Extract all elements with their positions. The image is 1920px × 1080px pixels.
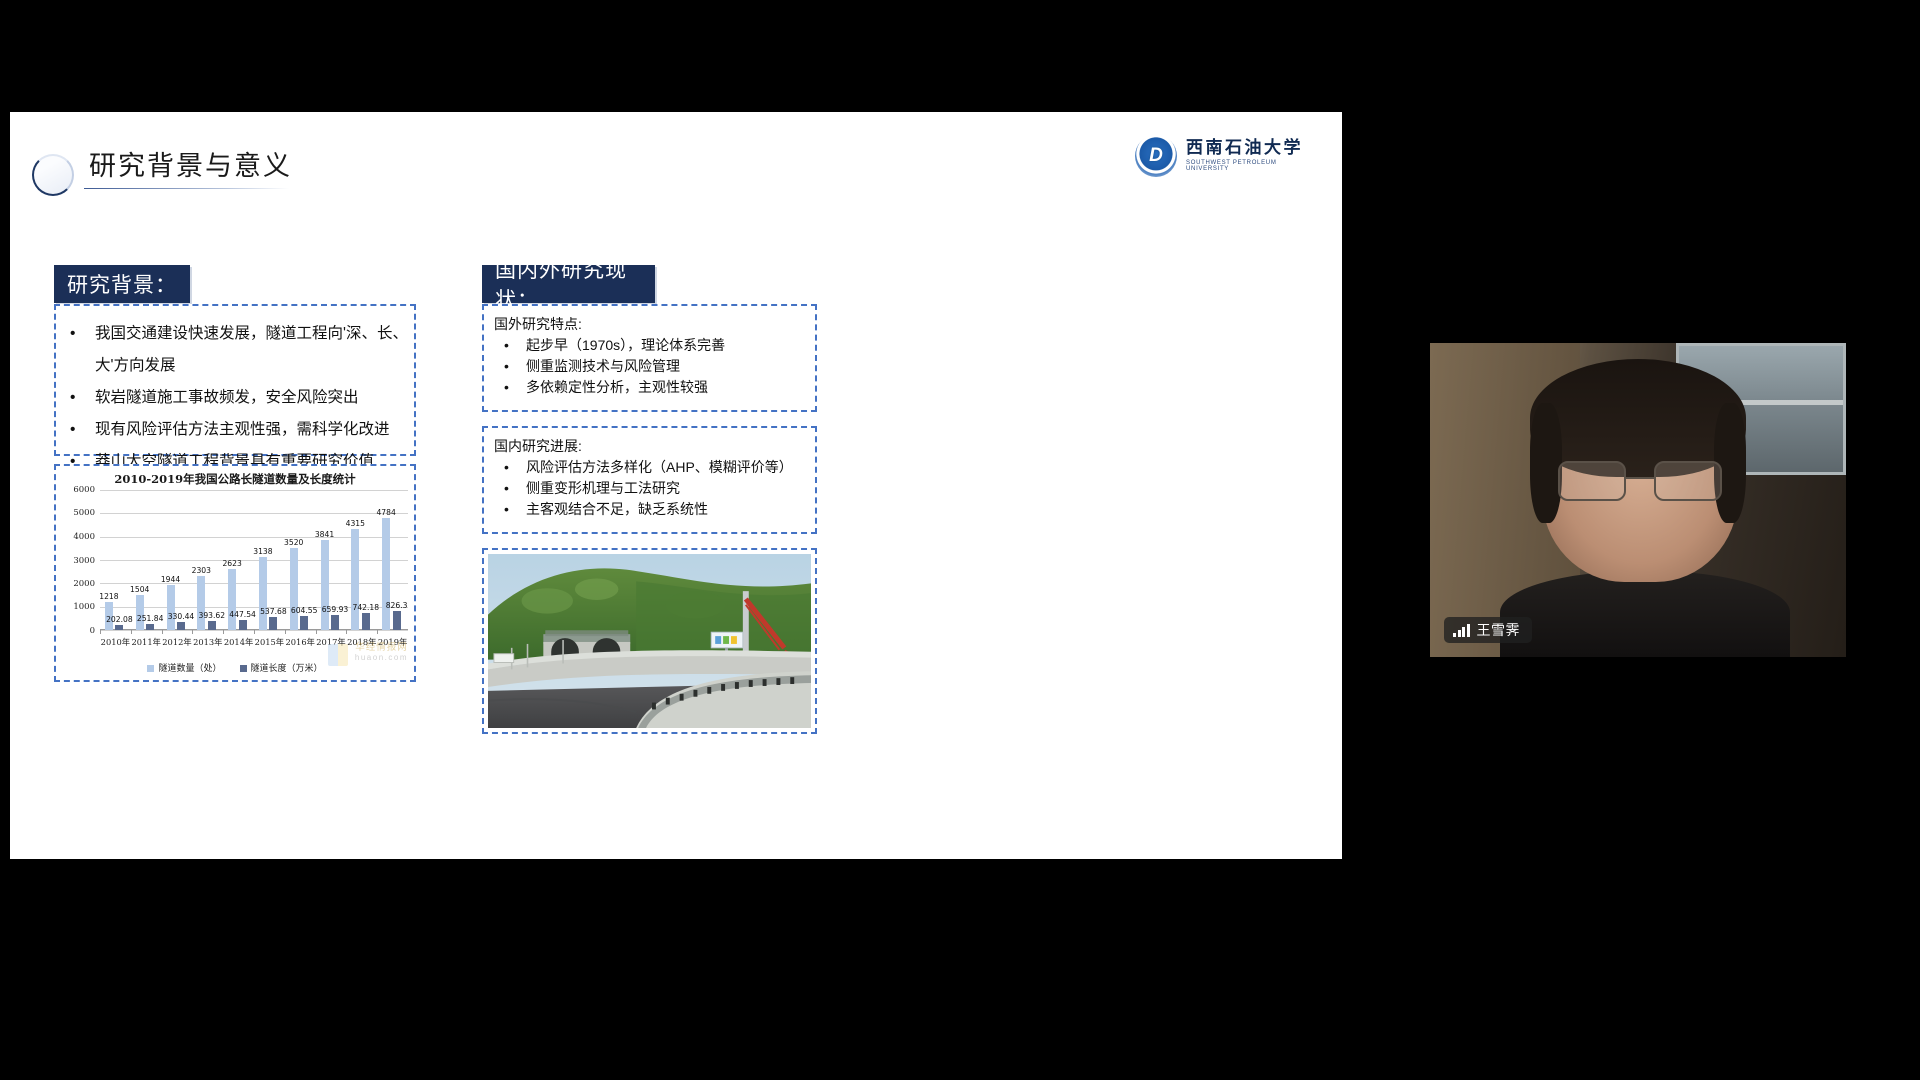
list-heading: 国外研究特点: [494, 314, 725, 335]
chart-x-tick [131, 630, 132, 634]
chart-data-label: 3138 [253, 547, 272, 556]
chart-bar [321, 540, 329, 630]
chart-bar-group: 3138537.682015年 [254, 490, 285, 630]
chart-title: 2010-2019年我国公路长隧道数量及长度统计 [56, 471, 414, 487]
list-item: •软岩隧道施工事故频发，安全风险突出 [70, 390, 359, 406]
chart-x-label: 2012年 [162, 636, 191, 648]
chart-data-label: 4784 [376, 508, 395, 517]
chart-box: 2010-2019年我国公路长隧道数量及长度统计 010002000300040… [54, 464, 416, 682]
chart-data-label: 447.54 [229, 610, 256, 619]
foreign-research-list: 国外研究特点: •起步早（1970s），理论体系完善 •侧重监测技术与风险管理 … [494, 314, 725, 398]
chart-watermark: 华经情报网 huaon.com [355, 639, 408, 662]
chart-bar [146, 624, 154, 630]
chart-bar-group: 3520604.552016年 [285, 490, 316, 630]
chart-bar-group: 3841659.932017年 [316, 490, 347, 630]
chart-y-tick-label: 0 [90, 626, 95, 636]
watermark-book-icon [328, 644, 348, 666]
chart-bar-group: 2303393.622013年 [192, 490, 223, 630]
tunnel-photo-illustration [488, 554, 811, 728]
chart-x-label: 2010年 [101, 636, 130, 648]
legend-swatch [240, 665, 247, 672]
list-item: •多依赖定性分析，主观性较强 [494, 377, 725, 398]
chart-data-label: 826.3 [386, 601, 408, 610]
participant-body [1500, 571, 1790, 657]
chart-bar [177, 622, 185, 630]
chart-bar [393, 611, 401, 630]
university-seal-icon [1135, 135, 1177, 177]
slide-header: 研究背景与意义 [32, 142, 1322, 200]
chart-y-tick-label: 4000 [73, 532, 95, 542]
logo-name-cn: 西南石油大学 [1186, 140, 1320, 158]
section-heading-research-status: 国内外研究现状： [482, 265, 655, 303]
chart-y-tick-label: 2000 [73, 579, 95, 589]
chart-data-label: 330.44 [168, 612, 195, 621]
chart-bar [331, 615, 339, 630]
chart-data-label: 1944 [161, 575, 180, 584]
chart-data-label: 4315 [346, 519, 365, 528]
chart-x-label: 2014年 [224, 636, 253, 648]
chart-x-tick [162, 630, 163, 634]
chart-bar [362, 613, 370, 630]
chart-bar-group: 4315742.182018年 [346, 490, 377, 630]
chart-x-label: 2011年 [131, 636, 160, 648]
glasses-lens-right [1654, 461, 1722, 501]
chart-data-label: 537.68 [260, 607, 287, 616]
chart-bar-group: 1218202.082010年 [100, 490, 131, 630]
title-underline [84, 188, 289, 189]
domestic-research-list: 国内研究进展: •风险评估方法多样化（AHP、模糊评价等） •侧重变形机理与工法… [494, 436, 793, 520]
chart-bar [290, 548, 298, 630]
chart-x-tick [316, 630, 317, 634]
watermark-en: huaon.com [355, 653, 408, 662]
participant-name: 王雪霁 [1477, 620, 1521, 640]
chart-data-label: 742.18 [352, 603, 379, 612]
chart-data-label: 604.55 [291, 606, 318, 615]
tunnel-statistics-chart: 2010-2019年我国公路长隧道数量及长度统计 010002000300040… [56, 466, 414, 680]
list-item-continuation: 大'方向发展 [70, 358, 175, 374]
legend-entry-count: 隧道数量（处） [147, 661, 221, 674]
signal-bars-icon [1453, 624, 1470, 637]
chart-bar [382, 518, 390, 630]
chart-data-label: 3841 [315, 530, 334, 539]
participant-video-tile[interactable]: 王雪霁 [1430, 343, 1846, 657]
chart-legend: 隧道数量（处） 隧道长度（万米） [56, 661, 414, 674]
list-item: •起步早（1970s），理论体系完善 [494, 335, 725, 356]
chart-y-tick-label: 3000 [73, 556, 95, 566]
chart-bar [351, 529, 359, 630]
list-item: •我国交通建设快速发展，隧道工程向'深、长、 [70, 326, 408, 342]
university-logo: 西南石油大学 SOUTHWEST PETROLEUM UNIVERSITY [1135, 132, 1320, 180]
chart-bar [259, 557, 267, 630]
list-item: •风险评估方法多样化（AHP、模糊评价等） [494, 457, 793, 478]
chart-bar [208, 621, 216, 630]
chart-x-label: 2016年 [285, 636, 314, 648]
screen-root: 研究背景与意义 西南石油大学 SOUTHWEST PETROLEUM UNIVE… [0, 0, 1920, 1080]
logo-name-en: SOUTHWEST PETROLEUM UNIVERSITY [1186, 160, 1320, 172]
presentation-slide: 研究背景与意义 西南石油大学 SOUTHWEST PETROLEUM UNIVE… [10, 112, 1342, 859]
chart-data-label: 1218 [99, 592, 118, 601]
chart-y-tick-label: 6000 [73, 485, 95, 495]
chart-data-label: 1504 [130, 585, 149, 594]
chart-x-tick [377, 630, 378, 634]
chart-x-tick [254, 630, 255, 634]
legend-entry-length: 隧道长度（万米） [240, 661, 323, 674]
chart-x-tick [223, 630, 224, 634]
chart-bar-group: 1944330.442012年 [162, 490, 193, 630]
chart-data-label: 2303 [192, 566, 211, 575]
circle-accent-icon [32, 154, 74, 196]
chart-bar [269, 617, 277, 630]
chart-x-tick [192, 630, 193, 634]
page-title: 研究背景与意义 [89, 144, 292, 183]
background-bullets-box: •我国交通建设快速发展，隧道工程向'深、长、 大'方向发展 •软岩隧道施工事故频… [54, 304, 416, 456]
domestic-research-box: 国内研究进展: •风险评估方法多样化（AHP、模糊评价等） •侧重变形机理与工法… [482, 426, 817, 534]
participant-name-badge: 王雪霁 [1444, 617, 1532, 643]
foreign-research-box: 国外研究特点: •起步早（1970s），理论体系完善 •侧重监测技术与风险管理 … [482, 304, 817, 412]
chart-bar [239, 620, 247, 630]
list-heading: 国内研究进展: [494, 436, 793, 457]
chart-bar [136, 595, 144, 630]
legend-swatch [147, 665, 154, 672]
list-item: •主客观结合不足，缺乏系统性 [494, 499, 793, 520]
shared-screen-region: 研究背景与意义 西南石油大学 SOUTHWEST PETROLEUM UNIVE… [10, 85, 1342, 915]
chart-x-tick [100, 630, 101, 634]
tunnel-site-photo [488, 554, 811, 728]
chart-plot-area: 01000200030004000500060001218202.082010年… [100, 490, 408, 630]
list-item: •侧重变形机理与工法研究 [494, 478, 793, 499]
chart-data-label: 2623 [222, 559, 241, 568]
chart-bar [228, 569, 236, 630]
section-heading-background: 研究背景： [54, 265, 190, 303]
glasses-lens-left [1558, 461, 1626, 501]
chart-y-tick-label: 1000 [73, 602, 95, 612]
chart-bar [167, 585, 175, 630]
chart-bar-group: 1504251.842011年 [131, 490, 162, 630]
chart-x-tick [285, 630, 286, 634]
chart-data-label: 251.84 [137, 614, 164, 623]
chart-y-tick-label: 5000 [73, 508, 95, 518]
chart-x-tick [346, 630, 347, 634]
chart-bar-group: 4784826.32019年 [377, 490, 408, 630]
chart-data-label: 659.93 [322, 605, 349, 614]
chart-bar [115, 625, 123, 630]
watermark-cn: 华经情报网 [355, 639, 408, 653]
chart-bar-group: 2623447.542014年 [223, 490, 254, 630]
list-item: •侧重监测技术与风险管理 [494, 356, 725, 377]
chart-x-label: 2013年 [193, 636, 222, 648]
participant-glasses [1558, 461, 1722, 501]
chart-data-label: 202.08 [106, 615, 133, 624]
project-photo-box [482, 548, 817, 734]
chart-bar [197, 576, 205, 630]
list-item: •现有风险评估方法主观性强，需科学化改进 [70, 422, 390, 438]
glasses-bridge [1626, 477, 1654, 479]
chart-x-label: 2015年 [255, 636, 284, 648]
chart-data-label: 393.62 [198, 611, 225, 620]
chart-bar [300, 616, 308, 630]
chart-data-label: 3520 [284, 538, 303, 547]
